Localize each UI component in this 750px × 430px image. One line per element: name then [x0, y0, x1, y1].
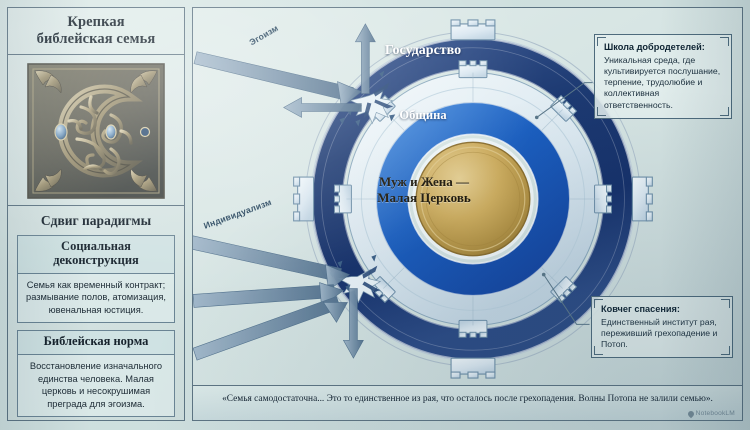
fortress-diagram: Государство Община Муж и Жена — Малая Це…: [193, 8, 742, 386]
callout-ark-title: Ковчег спасения:: [601, 304, 724, 316]
callout-ark-of-salvation: Ковчег спасения: Единственный институт р…: [591, 296, 733, 358]
corner-bracket-icon: [597, 37, 606, 46]
slide-canvas: Крепкая библейская семья: [0, 0, 750, 430]
quote-text: «Семья самодостаточна... Это то единстве…: [214, 394, 721, 405]
card-title-line2: деконструкция: [21, 254, 171, 268]
card-social-deconstruction: Социальная деконструкция Семья как време…: [17, 235, 175, 323]
card-title-line1: Социальная: [21, 240, 171, 254]
corner-bracket-icon: [597, 107, 606, 116]
callout-ark-body: Единственный институт рая, переживший гр…: [601, 317, 724, 351]
paradigm-shift-heading: Сдвиг парадигмы: [8, 206, 184, 235]
card-social-deconstruction-body: Семья как временный контракт; размывание…: [18, 274, 174, 323]
emblem-container: [8, 55, 184, 206]
watermark-label: NotebookLM: [696, 410, 735, 417]
card-biblical-norm-title: Библейская норма: [18, 331, 174, 355]
corner-bracket-icon: [720, 37, 729, 46]
card-biblical-norm-body: Восстановление изначального единства чел…: [18, 355, 174, 416]
corner-bracket-icon: [720, 107, 729, 116]
corner-bracket-icon: [721, 299, 730, 308]
callout-school-body: Уникальная среда, где культивируется пос…: [604, 55, 723, 112]
main-stage: Государство Община Муж и Жена — Малая Це…: [192, 7, 743, 421]
callout-school-title: Школа добродетелей:: [604, 42, 723, 54]
sidebar-title: Крепкая библейская семья: [8, 8, 184, 55]
card-title-line1: Библейская норма: [21, 335, 171, 349]
sidebar-title-line1: Крепкая: [12, 14, 180, 31]
corner-bracket-icon: [594, 346, 603, 355]
quote-bar: «Семья самодостаточна... Это то единстве…: [193, 385, 742, 420]
corner-bracket-icon: [721, 346, 730, 355]
card-biblical-norm: Библейская норма Восстановление изначаль…: [17, 330, 175, 417]
sidebar-panel: Крепкая библейская семья: [7, 7, 185, 421]
illuminated-letter-c-icon: [25, 61, 167, 201]
corner-bracket-icon: [594, 299, 603, 308]
notebooklm-watermark: NotebookLM: [688, 410, 735, 417]
callout-school-of-virtues: Школа добродетелей: Уникальная среда, гд…: [594, 34, 732, 119]
card-social-deconstruction-title: Социальная деконструкция: [18, 236, 174, 274]
sidebar-title-line2: библейская семья: [12, 31, 180, 48]
notebooklm-logo-icon: [686, 409, 694, 417]
